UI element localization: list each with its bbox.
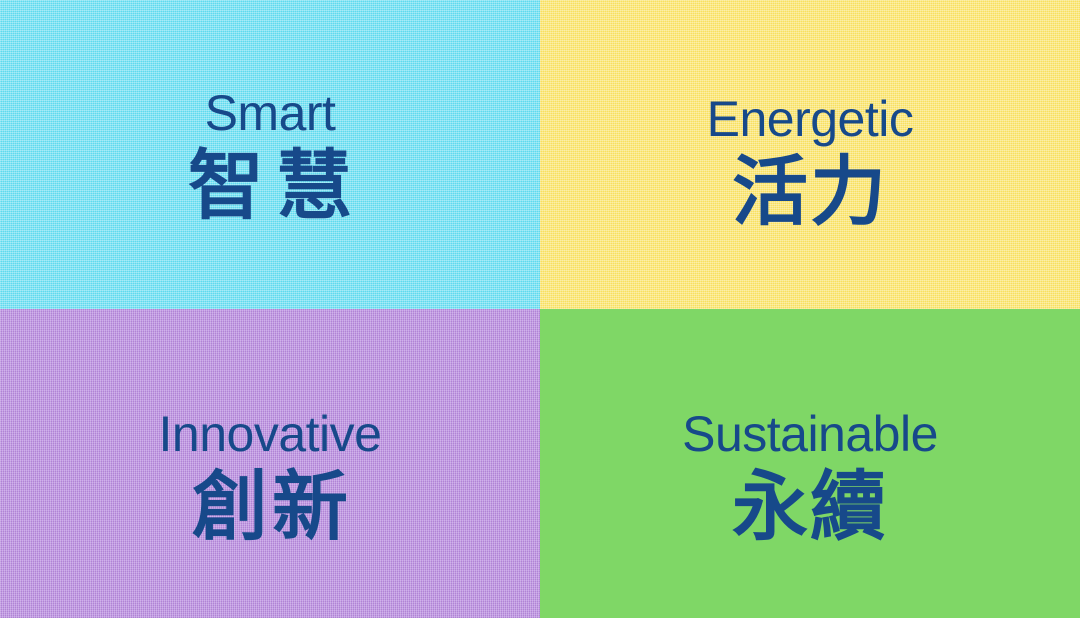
label-en-energetic: Energetic <box>707 94 914 144</box>
brand-values-grid: Smart 智慧 Energetic 活力 Innovative 創新 Sust… <box>0 0 1080 618</box>
label-stack-energetic: Energetic 活力 <box>707 94 914 231</box>
label-zh-smart: 智慧 <box>176 147 364 225</box>
label-zh-innovative: 創新 <box>188 468 352 546</box>
label-en-smart: Smart <box>205 88 336 138</box>
label-zh-sustainable: 永續 <box>732 468 888 546</box>
label-stack-sustainable: Sustainable 永續 <box>682 409 938 546</box>
quadrant-smart: Smart 智慧 <box>0 0 540 309</box>
quadrant-innovative: Innovative 創新 <box>0 309 540 618</box>
label-en-sustainable: Sustainable <box>682 409 938 459</box>
quadrant-energetic: Energetic 活力 <box>540 0 1080 309</box>
quadrant-sustainable: Sustainable 永續 <box>540 309 1080 618</box>
label-stack-innovative: Innovative 創新 <box>159 409 382 546</box>
label-en-innovative: Innovative <box>159 409 382 459</box>
label-stack-smart: Smart 智慧 <box>176 88 364 225</box>
label-zh-energetic: 活力 <box>732 153 888 231</box>
